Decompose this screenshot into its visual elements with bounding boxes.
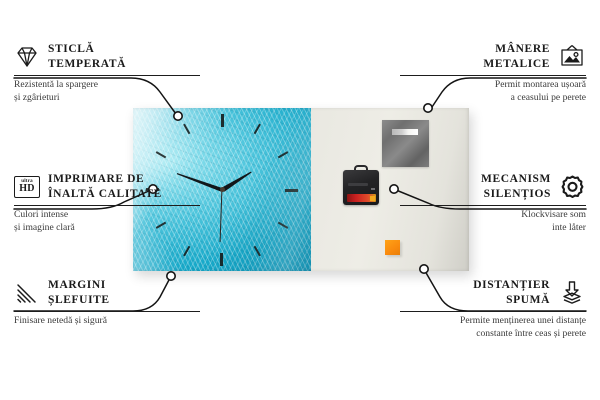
foam-spacer [385,240,400,255]
feature-title: IMPRIMARE DE ÎNALTĂ CALITATE [48,172,162,201]
mechanism-battery [347,194,376,202]
feature-description: Finisare netedă și sigură [14,315,200,328]
feature-silent-mechanism: MECANISM SILENȚIOS Klockvisare som inte … [400,172,586,235]
feature-polished-edges: MARGINI ȘLEFUITE Finisare netedă și sigu… [14,278,200,328]
feature-title: MARGINI ȘLEFUITE [48,278,110,307]
feature-description: Culori intense și imagine clară [14,209,200,235]
feature-desc-line1: Culori intense [14,209,200,222]
feature-hd-print: ultra HD IMPRIMARE DE ÎNALTĂ CALITATE Cu… [14,172,200,235]
feature-metal-hangers: MÂNERE METALICE Permit montarea ușoară a… [400,42,586,105]
feature-title: MECANISM SILENȚIOS [481,172,551,201]
hanger-slot [392,129,418,135]
feature-title-line2: METALICE [483,57,550,72]
polished-edges-icon [14,281,40,305]
feature-rule [400,205,586,206]
feature-description: Permit montarea ușoară a ceasului pe per… [400,79,586,105]
feature-title: DISTANȚIER SPUMĂ [473,278,550,307]
feature-desc-line2: și zgârieturi [14,92,200,105]
feature-desc-line2: a ceasului pe perete [400,92,586,105]
feature-desc-line1: Klockvisare som [400,209,586,222]
feature-desc-line2: constante între ceas și perete [400,328,586,341]
feature-foam-spacer: DISTANȚIER SPUMĂ Permite menținerea unei… [400,278,586,341]
feature-description: Klockvisare som inte låter [400,209,586,235]
feature-title-line2: TEMPERATĂ [48,57,126,72]
clock-mechanism [343,165,379,205]
feature-description: Permite menținerea unei distanțe constan… [400,315,586,341]
feature-rule [14,205,200,206]
feature-header: DISTANȚIER SPUMĂ [400,278,586,307]
feature-title-line1: MARGINI [48,278,110,293]
mechanism-body [343,170,379,205]
feature-title-line1: IMPRIMARE DE [48,172,162,187]
feature-rule [14,75,200,76]
feature-title-line2: SPUMĂ [473,293,550,308]
feature-description: Rezistentă la spargere și zgârieturi [14,79,200,105]
feature-title-line1: DISTANȚIER [473,278,550,293]
feature-title-line2: ȘLEFUITE [48,293,110,308]
arrow-onto-layers-icon [558,280,586,305]
feature-rule [400,311,586,312]
feature-title: STICLĂ TEMPERATĂ [48,42,126,71]
feature-title: MÂNERE METALICE [483,42,550,71]
feature-desc-line2: inte låter [400,222,586,235]
ultra-hd-main-label: HD [19,184,35,194]
metal-hanger-plate [382,120,429,167]
feature-header: STICLĂ TEMPERATĂ [14,42,200,71]
battery-terminal [370,196,375,201]
infographic-canvas: STICLĂ TEMPERATĂ Rezistentă la spargere … [0,0,600,400]
feature-title-line2: SILENȚIOS [481,187,551,202]
mechanism-marking [371,188,375,190]
feature-tempered-glass: STICLĂ TEMPERATĂ Rezistentă la spargere … [14,42,200,105]
feature-header: MECANISM SILENȚIOS [400,172,586,201]
feature-rule [14,311,200,312]
feature-title-line1: MÂNERE [483,42,550,57]
feature-header: ultra HD IMPRIMARE DE ÎNALTĂ CALITATE [14,172,200,201]
diamond-icon [14,45,40,69]
feature-desc-line1: Finisare netedă și sigură [14,315,200,328]
feature-desc-line1: Permit montarea ușoară [400,79,586,92]
feature-header: MARGINI ȘLEFUITE [14,278,200,307]
gear-icon [559,174,586,199]
feature-desc-line1: Permite menținerea unei distanțe [400,315,586,328]
mechanism-slot [348,183,368,186]
feature-title-line1: STICLĂ [48,42,126,57]
feature-desc-line2: și imagine clară [14,222,200,235]
feature-title-line2: ÎNALTĂ CALITATE [48,187,162,202]
feature-title-line1: MECANISM [481,172,551,187]
framed-picture-hanging-icon [558,44,586,69]
feature-rule [400,75,586,76]
ultra-hd-icon: ultra HD [14,176,40,198]
feature-desc-line1: Rezistentă la spargere [14,79,200,92]
feature-header: MÂNERE METALICE [400,42,586,71]
